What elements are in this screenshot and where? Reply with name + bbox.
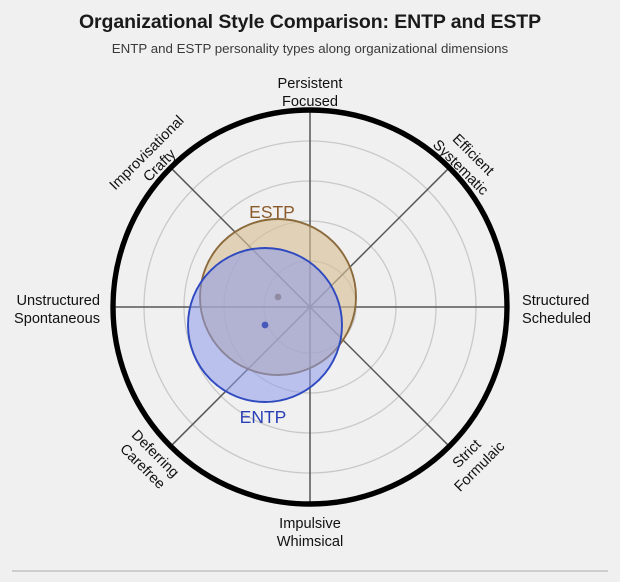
axis-label-unstructured-spontaneous: Unstructured Spontaneous — [14, 293, 100, 327]
axis-label-line1: Persistent — [278, 76, 343, 92]
axis-label-line2: Focused — [282, 94, 338, 110]
axis-label-line1: Unstructured — [16, 293, 100, 309]
radar-plot-svg: ESTP ENTP Persistent Focused Efficient S… — [0, 0, 620, 582]
series-label-estp: ESTP — [249, 202, 295, 222]
radar-chart-figure: Organizational Style Comparison: ENTP an… — [0, 0, 620, 582]
axis-label-line2: Scheduled — [522, 311, 591, 327]
series-entp-center-dot — [262, 322, 269, 329]
axis-label-line1: Structured — [522, 293, 589, 309]
axis-label-impulsive-whimsical: Impulsive Whimsical — [277, 516, 343, 550]
axis-label-deferring-carefree: Deferring Carefree — [115, 427, 181, 493]
axis-label-improvisational-crafty: Improvisational Crafty — [107, 113, 200, 206]
axis-label-line2: Spontaneous — [14, 311, 100, 327]
axis-label-persistent-focused: Persistent Focused — [278, 76, 343, 110]
axis-label-structured-scheduled: Structured Scheduled — [522, 293, 591, 327]
axis-label-line1: Impulsive — [279, 516, 341, 532]
series-entp[interactable] — [188, 248, 342, 402]
axis-label-line2: Whimsical — [277, 534, 343, 550]
series-label-entp: ENTP — [240, 407, 287, 427]
axis-label-strict-formulaic: Strict Formulaic — [439, 426, 508, 495]
